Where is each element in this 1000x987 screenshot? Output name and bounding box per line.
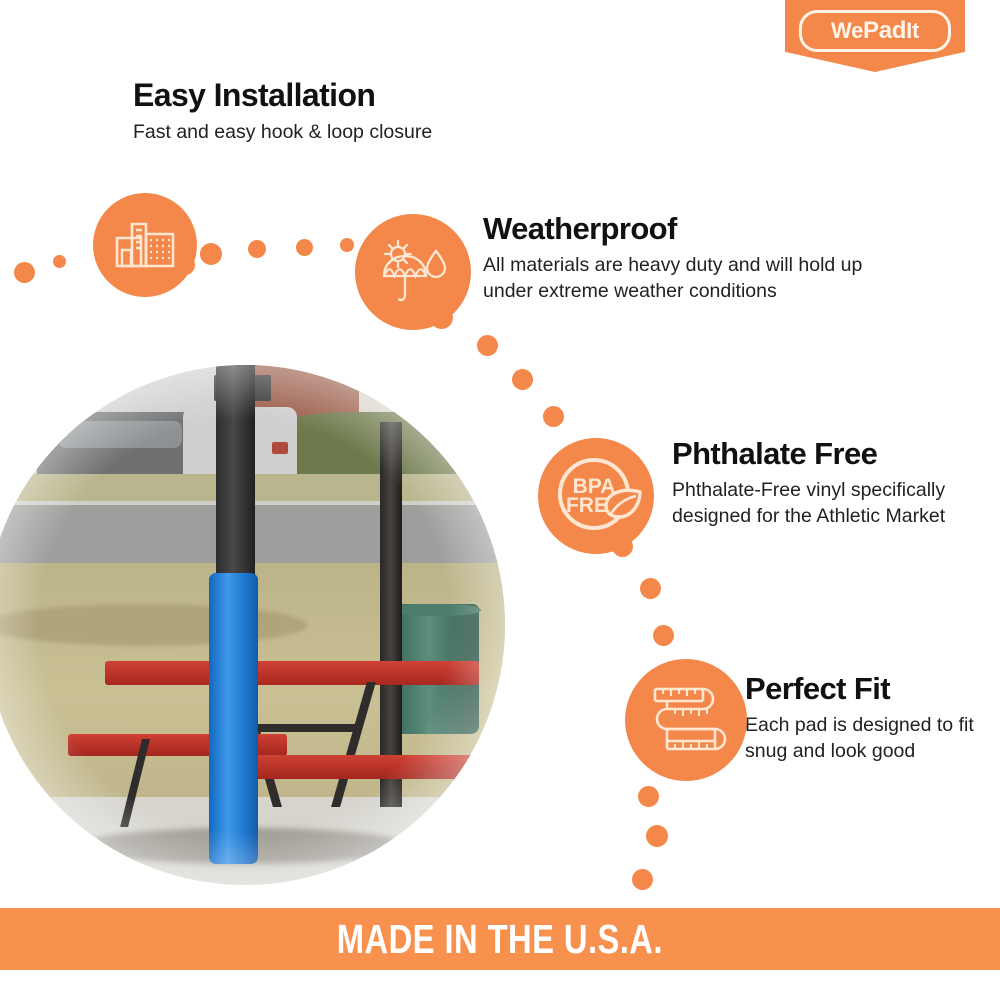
trail-dot: [512, 369, 533, 390]
feature-description: All materials are heavy duty and will ho…: [483, 252, 913, 305]
logo-text-we: We: [831, 18, 863, 43]
feature-title: Weatherproof: [483, 212, 913, 246]
trail-dot: [632, 869, 653, 890]
trail-dot: [200, 243, 222, 265]
logo-text-it: It: [906, 18, 919, 43]
feature-description: Phthalate-Free vinyl specifically design…: [672, 477, 972, 530]
feature-title: Easy Installation: [133, 78, 553, 113]
sun-umbrella-raindrop-icon: [355, 214, 471, 330]
feature-title: Perfect Fit: [745, 672, 985, 706]
building-icon: [93, 193, 197, 297]
logo-outline: WePadIt: [799, 10, 951, 52]
trail-dot: [296, 239, 313, 256]
photo-vignette: [0, 365, 505, 885]
feature-title: Phthalate Free: [672, 437, 972, 471]
trail-dot: [640, 578, 661, 599]
trail-dot: [653, 625, 674, 646]
made-in-usa-banner: MADE IN THE U.S.A.: [0, 908, 1000, 970]
trail-dot: [646, 825, 668, 847]
brand-logo: WePadIt: [785, 0, 965, 72]
feature-perfect-fit: Perfect Fit Each pad is designed to fit …: [745, 672, 985, 765]
trail-dot: [53, 255, 66, 268]
trail-dot: [430, 306, 453, 329]
logo-text-pad: Pad: [863, 17, 906, 44]
feature-phthalate-free: Phthalate Free Phthalate-Free vinyl spec…: [672, 437, 972, 530]
trail-dot: [248, 240, 266, 258]
feature-easy-installation: Easy Installation Fast and easy hook & l…: [133, 78, 553, 146]
trail-dot: [543, 406, 564, 427]
trail-dot: [638, 786, 659, 807]
banner-text: MADE IN THE U.S.A.: [337, 916, 663, 963]
bpa-free-leaf-icon: BPA FREE: [538, 438, 654, 554]
feature-description: Fast and easy hook & loop closure: [133, 119, 553, 145]
logo-text: WePadIt: [831, 19, 919, 43]
trail-dot: [612, 536, 633, 557]
trail-dot: [477, 335, 498, 356]
trail-dot: [175, 255, 195, 275]
feature-weatherproof: Weatherproof All materials are heavy dut…: [483, 212, 913, 305]
infographic-page: WePadIt Easy Installation Fast and easy …: [0, 0, 1000, 987]
measuring-tape-icon: [625, 659, 747, 781]
trail-dot: [340, 238, 354, 252]
trail-dot: [14, 262, 35, 283]
feature-description: Each pad is designed to fit snug and loo…: [745, 712, 985, 765]
product-photo: [0, 365, 505, 885]
